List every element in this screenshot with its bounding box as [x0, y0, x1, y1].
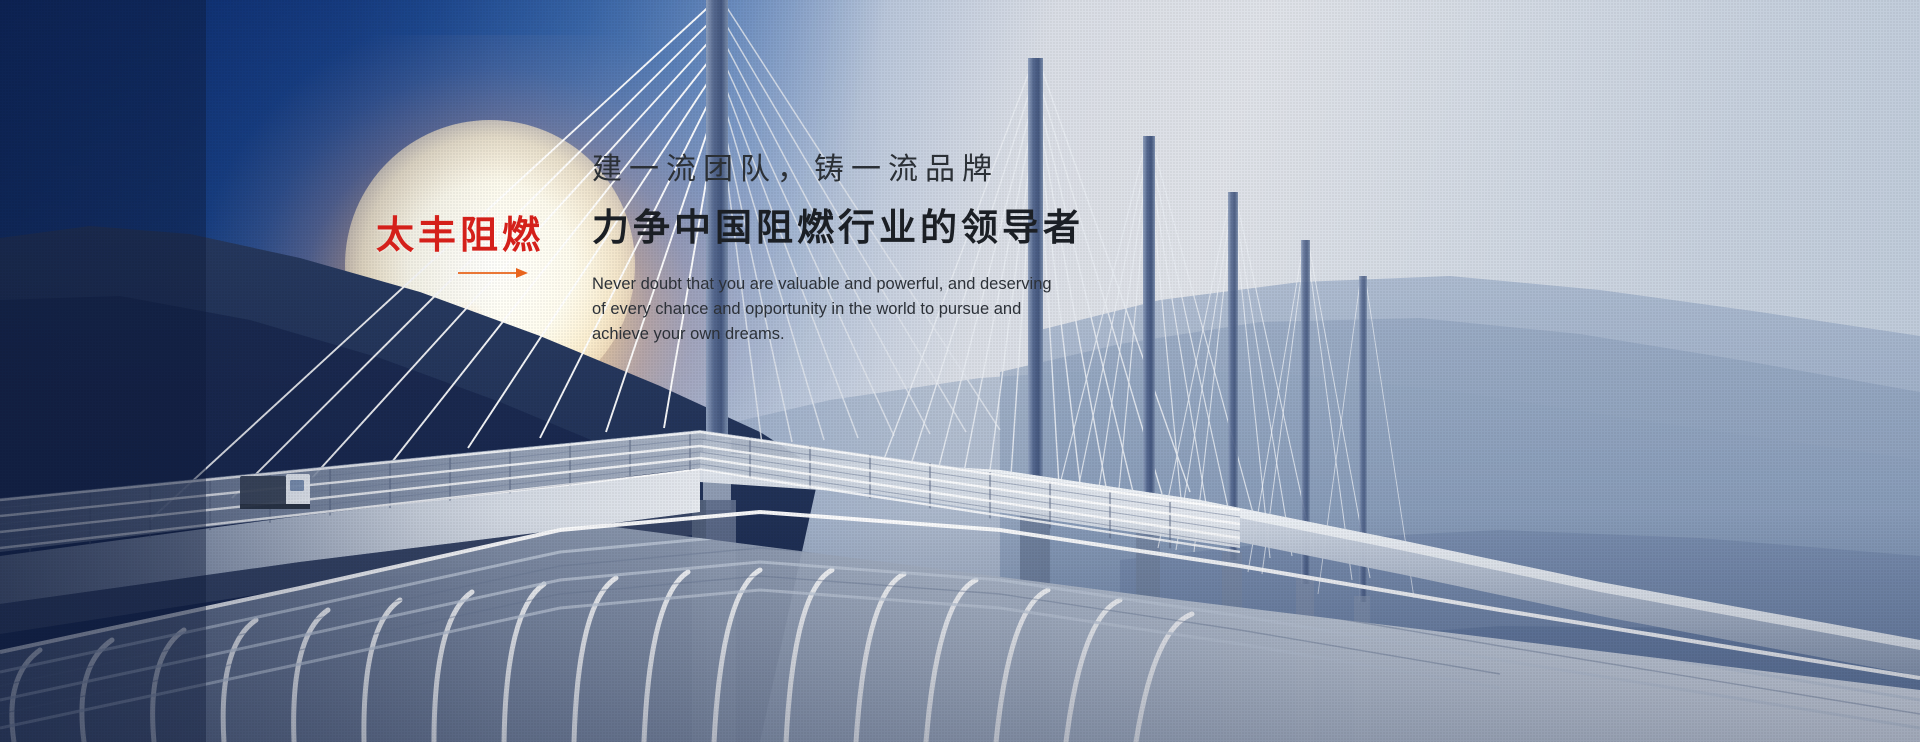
english-line: of every chance and opportunity in the w…	[592, 297, 1084, 322]
brand-logo[interactable]: 太丰阻燃	[376, 216, 546, 254]
headline-block: 建一流团队，铸一流品牌 力争中国阻燃行业的领导者 Never doubt tha…	[592, 152, 1084, 347]
english-line: Never doubt that you are valuable and po…	[592, 272, 1084, 297]
headline-subtitle: 建一流团队，铸一流品牌	[592, 152, 1084, 188]
brand-logo-text: 太丰阻燃	[376, 216, 546, 254]
hero-banner: 太丰阻燃 建一流团队，铸一流品牌 力争中国阻燃行业的领导者 Never doub…	[0, 0, 1920, 742]
headline-title: 力争中国阻燃行业的领导者	[592, 206, 1084, 250]
headline-english: Never doubt that you are valuable and po…	[592, 272, 1084, 347]
arrow-right-icon	[458, 266, 530, 280]
english-line: achieve your own dreams.	[592, 322, 1084, 347]
banner-content: 太丰阻燃 建一流团队，铸一流品牌 力争中国阻燃行业的领导者 Never doub…	[0, 0, 1920, 742]
